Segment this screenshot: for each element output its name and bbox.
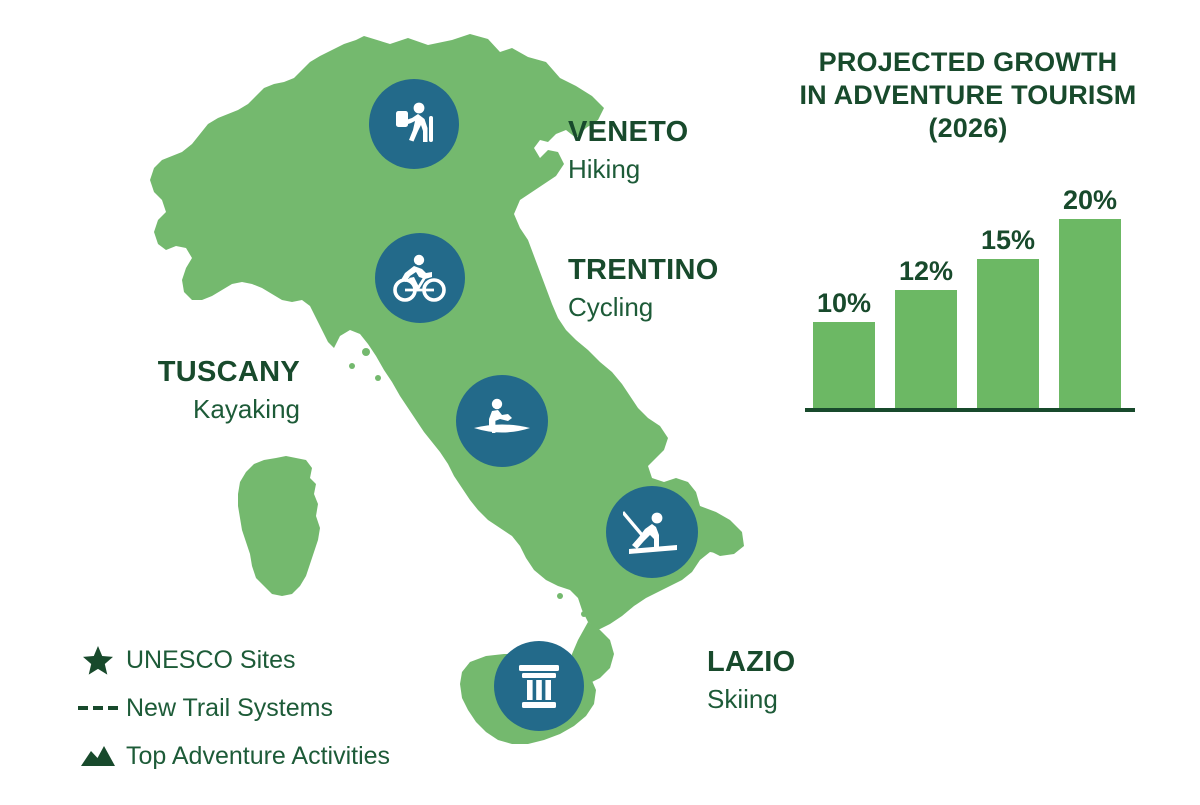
region-label-trentino: TRENTINO Cycling xyxy=(568,256,719,320)
bar-rect xyxy=(1059,219,1121,408)
marker-heritage[interactable] xyxy=(494,641,584,731)
kayak-icon xyxy=(472,395,532,447)
legend-item-unesco-sites: UNESCO Sites xyxy=(70,636,390,684)
infographic-canvas: VENETO Hiking TRENTINO Cycling TUSCANY K… xyxy=(0,0,1200,800)
legend-item-new-trail-systems: New Trail Systems xyxy=(70,684,390,732)
region-name: LAZIO xyxy=(707,648,796,677)
bar-rect xyxy=(977,259,1039,408)
chart-title: PROJECTED GROWTH IN ADVENTURE TOURISM (2… xyxy=(768,46,1168,145)
skiing-icon xyxy=(623,505,681,559)
sardinia-shape xyxy=(238,456,320,596)
region-label-tuscany: TUSCANY Kayaking xyxy=(0,358,300,422)
dash-segment xyxy=(78,706,88,710)
bar-value-label: 12% xyxy=(899,258,953,285)
island-speck xyxy=(375,375,381,381)
cycling-icon xyxy=(392,253,448,303)
bar-group: 12% xyxy=(895,258,957,408)
star-icon xyxy=(70,645,126,676)
legend-label: New Trail Systems xyxy=(126,694,333,723)
region-activity: Cycling xyxy=(568,294,719,320)
island-speck xyxy=(557,593,563,599)
island-speck xyxy=(362,348,370,356)
island-speck xyxy=(349,363,355,369)
bar-group: 10% xyxy=(813,290,875,408)
bar-group: 20% xyxy=(1059,187,1121,408)
region-name: TUSCANY xyxy=(0,358,300,387)
marker-skiing[interactable] xyxy=(606,486,698,578)
legend-item-top-adventure-activities: Top Adventure Activities xyxy=(70,732,390,780)
bar-value-label: 20% xyxy=(1063,187,1117,214)
marker-cycling[interactable] xyxy=(375,233,465,323)
bar-value-label: 10% xyxy=(817,290,871,317)
island-speck xyxy=(327,327,333,333)
chart-baseline-axis xyxy=(805,408,1135,412)
marker-kayak[interactable] xyxy=(456,375,548,467)
hiking-icon xyxy=(388,98,440,150)
chart-plot-area: 10% 12% 15% 20% xyxy=(805,164,1135,412)
column-icon xyxy=(516,662,562,710)
legend-label: UNESCO Sites xyxy=(126,646,295,675)
dashed-line-icon xyxy=(70,706,126,710)
region-activity: Kayaking xyxy=(0,396,300,422)
dash-segment xyxy=(108,706,118,710)
region-name: TRENTINO xyxy=(568,256,719,285)
legend: UNESCO Sites New Trail Systems Top Adven… xyxy=(70,636,390,780)
region-label-veneto: VENETO Hiking xyxy=(568,118,689,182)
region-activity: Hiking xyxy=(568,156,689,182)
marker-hiking[interactable] xyxy=(369,79,459,169)
legend-label: Top Adventure Activities xyxy=(126,742,390,771)
island-speck xyxy=(581,611,587,617)
region-activity: Skiing xyxy=(707,686,796,712)
bar-group: 15% xyxy=(977,227,1039,408)
bar-value-label: 15% xyxy=(981,227,1035,254)
dash-segment xyxy=(93,706,103,710)
region-label-lazio: LAZIO Skiing xyxy=(707,648,796,712)
mountain-icon xyxy=(70,745,126,767)
bar-rect xyxy=(895,290,957,408)
region-name: VENETO xyxy=(568,118,689,147)
bar-rect xyxy=(813,322,875,408)
projected-growth-chart: PROJECTED GROWTH IN ADVENTURE TOURISM (2… xyxy=(768,46,1168,426)
